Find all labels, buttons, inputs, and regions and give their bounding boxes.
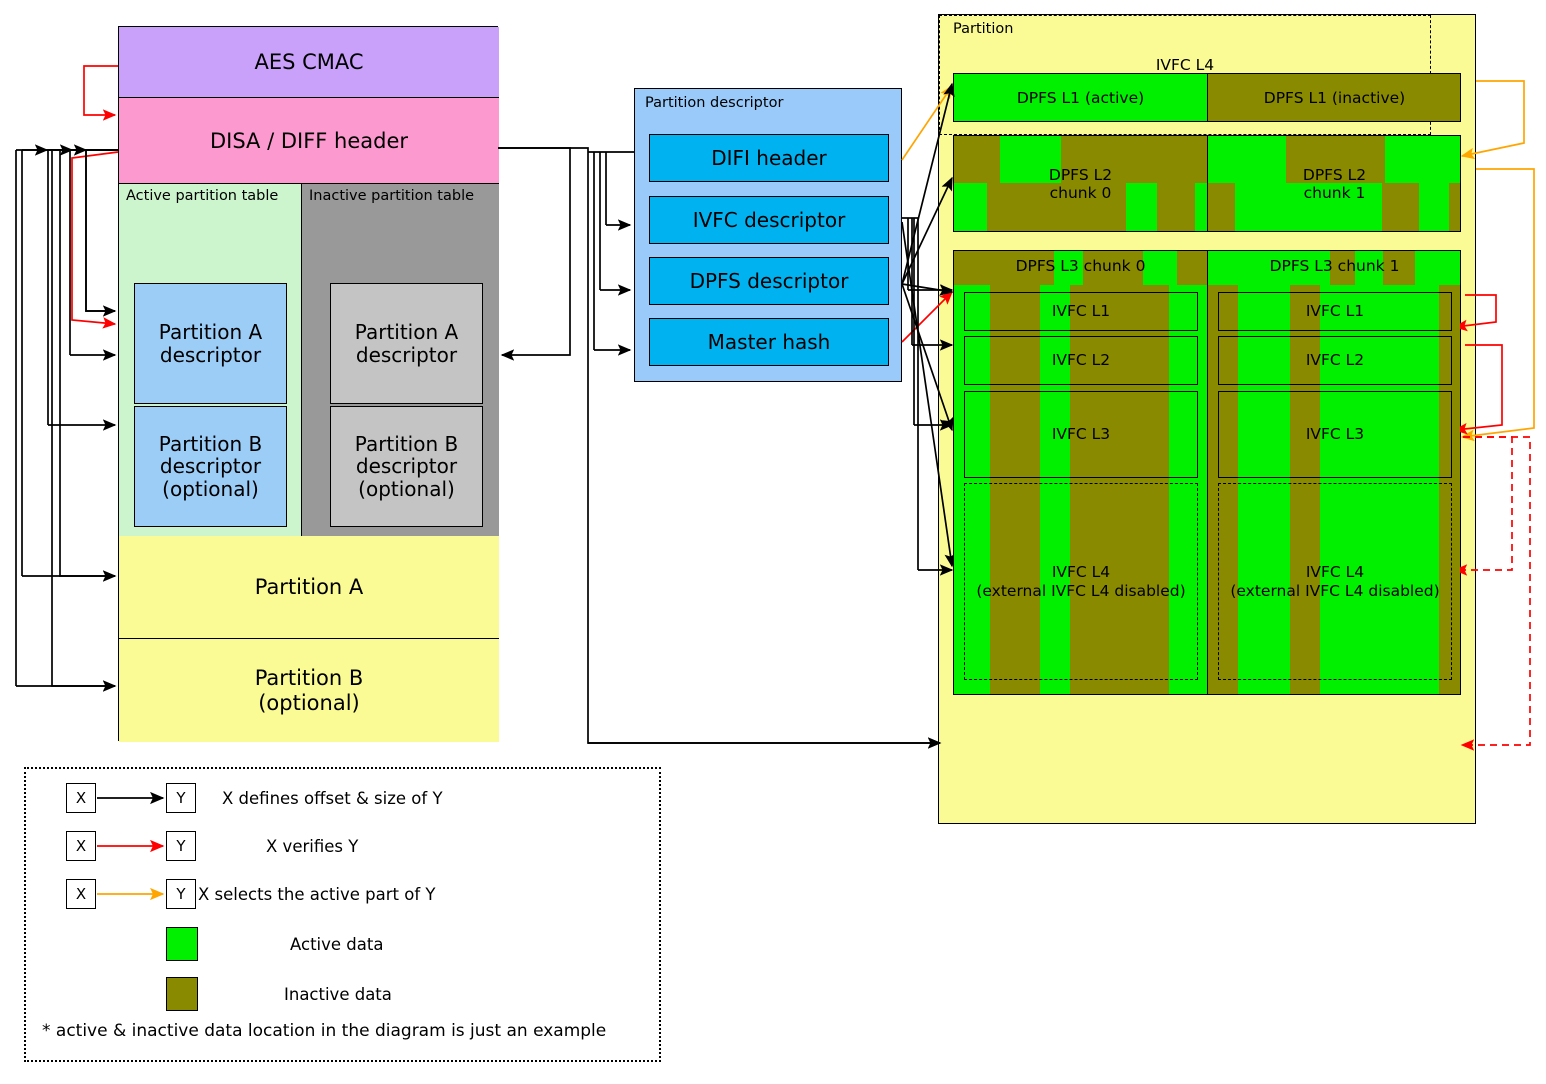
ivfc-l1-chunk-1: IVFC L1 (1218, 292, 1452, 331)
dpfs-l2-chunk-1: DPFS L2chunk 1 (1207, 136, 1461, 231)
dpfs-l3-chunk-1: DPFS L3 chunk 1 IVFC L1 IVFC L2 IVFC L3 … (1207, 251, 1461, 694)
ivfc-l4-chunk-1: IVFC L4(external IVFC L4 disabled) (1218, 483, 1452, 680)
dpfs-l3-band: DPFS L3 chunk 0 IVFC L1 IVFC L2 IVFC L3 … (953, 250, 1461, 695)
ivfc-l1-chunk-0: IVFC L1 (964, 292, 1198, 331)
ivfc-l2-chunk-0-label: IVFC L2 (1052, 351, 1110, 370)
active-partition-a-descriptor-label: Partition Adescriptor (159, 321, 262, 366)
active-partition-b-descriptor-label: Partition Bdescriptor(optional) (159, 433, 262, 500)
inactive-partition-table-label: Inactive partition table (309, 188, 474, 204)
difi-header-block: DIFI header (649, 134, 889, 182)
master-hash-label: Master hash (708, 330, 831, 354)
disa-diff-container: AES CMAC DISA / DIFF header Active parti… (118, 26, 498, 741)
active-partition-b-descriptor: Partition Bdescriptor(optional) (134, 406, 287, 527)
diagram-canvas: AES CMAC DISA / DIFF header Active parti… (0, 0, 1546, 1084)
disa-diff-header-label: DISA / DIFF header (210, 129, 408, 153)
dpfs-l2-band: DPFS L2chunk 0 DPFS L2chunk 1 (953, 135, 1461, 232)
partition-label: Partition (953, 21, 1013, 37)
partition-tables-row: Active partition table Partition Adescri… (119, 184, 499, 536)
dpfs-l2-chunk-0-label: DPFS L2chunk 0 (954, 166, 1207, 203)
partition-descriptor-label: Partition descriptor (645, 95, 783, 111)
active-partition-table-label: Active partition table (126, 188, 278, 204)
active-partition-table: Active partition table Partition Adescri… (119, 184, 302, 536)
ivfc-l2-chunk-0: IVFC L2 (964, 336, 1198, 385)
partition-b-label: Partition B(optional) (255, 666, 364, 714)
partition-b-block: Partition B(optional) (119, 639, 499, 742)
master-hash-block: Master hash (649, 318, 889, 366)
dpfs-l2-chunk-0: DPFS L2chunk 0 (954, 136, 1207, 231)
dpfs-l1-inactive: DPFS L1 (inactive) (1207, 74, 1461, 121)
dpfs-l2-chunk-1-label: DPFS L2chunk 1 (1208, 166, 1461, 203)
ivfc-l3-chunk-0: IVFC L3 (964, 391, 1198, 478)
dpfs-descriptor-block: DPFS descriptor (649, 257, 889, 305)
difi-header-label: DIFI header (711, 146, 827, 170)
dpfs-l1-active: DPFS L1 (active) (954, 74, 1207, 121)
partition-container: Partition DPFS L1 (active) DPFS L1 (inac… (938, 14, 1476, 824)
ivfc-l4-chunk-0-label: IVFC L4(external IVFC L4 disabled) (976, 563, 1185, 600)
ivfc-l3-chunk-1-label: IVFC L3 (1306, 425, 1364, 444)
active-partition-a-descriptor: Partition Adescriptor (134, 283, 287, 404)
legend-arrows (26, 769, 663, 1064)
inactive-partition-a-descriptor-label: Partition Adescriptor (355, 321, 458, 366)
inactive-partition-b-descriptor-label: Partition Bdescriptor(optional) (355, 433, 458, 500)
legend-container: X Y X defines offset & size of Y X Y X v… (24, 767, 661, 1062)
ivfc-l1-chunk-1-label: IVFC L1 (1306, 302, 1364, 321)
dpfs-l3-chunk-0: DPFS L3 chunk 0 IVFC L1 IVFC L2 IVFC L3 … (954, 251, 1207, 694)
partition-descriptor-container: Partition descriptor DIFI header IVFC de… (634, 88, 902, 382)
dpfs-l1-inactive-label: DPFS L1 (inactive) (1208, 88, 1461, 106)
aes-cmac-block: AES CMAC (119, 27, 499, 98)
ivfc-l3-chunk-0-label: IVFC L3 (1052, 425, 1110, 444)
inactive-partition-a-descriptor: Partition Adescriptor (330, 283, 483, 404)
ivfc-l1-chunk-0-label: IVFC L1 (1052, 302, 1110, 321)
disa-diff-header-block: DISA / DIFF header (119, 98, 499, 184)
dpfs-descriptor-label: DPFS descriptor (690, 269, 849, 293)
ivfc-l2-chunk-1: IVFC L2 (1218, 336, 1452, 385)
dpfs-l3-chunk-1-label: DPFS L3 chunk 1 (1208, 257, 1461, 275)
ivfc-descriptor-label: IVFC descriptor (693, 208, 846, 232)
partition-a-label: Partition A (255, 575, 364, 599)
ivfc-l4-chunk-1-label: IVFC L4(external IVFC L4 disabled) (1230, 563, 1439, 600)
dpfs-l1-active-label: DPFS L1 (active) (954, 88, 1207, 106)
dpfs-l1-band: DPFS L1 (active) DPFS L1 (inactive) (953, 73, 1461, 122)
ivfc-l3-chunk-1: IVFC L3 (1218, 391, 1452, 478)
aes-cmac-label: AES CMAC (254, 50, 363, 74)
ivfc-l4-chunk-0: IVFC L4(external IVFC L4 disabled) (964, 483, 1198, 680)
inactive-partition-table: Inactive partition table Partition Adesc… (302, 184, 499, 536)
dpfs-l3-chunk-0-label: DPFS L3 chunk 0 (954, 257, 1207, 275)
ivfc-descriptor-block: IVFC descriptor (649, 196, 889, 244)
ivfc-l2-chunk-1-label: IVFC L2 (1306, 351, 1364, 370)
inactive-partition-b-descriptor: Partition Bdescriptor(optional) (330, 406, 483, 527)
partition-a-block: Partition A (119, 536, 499, 639)
